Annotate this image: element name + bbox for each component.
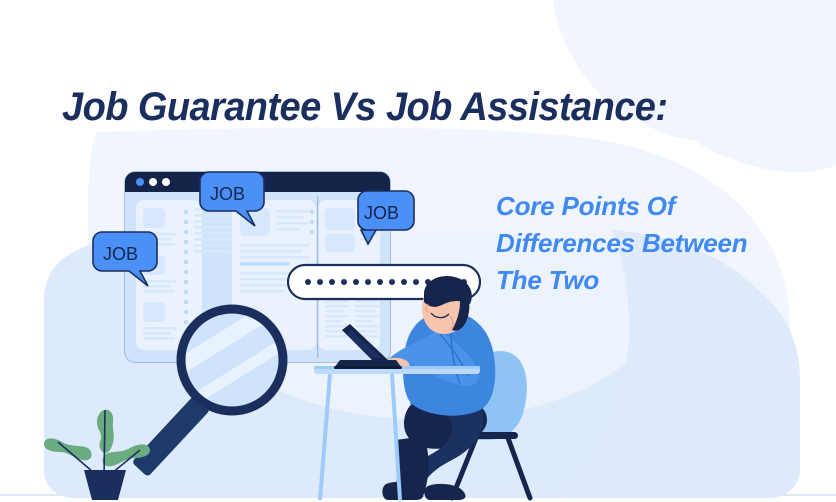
subtitle-line-3: The Two	[496, 262, 836, 299]
job-bubble-top: JOB	[200, 172, 264, 226]
page-subtitle: Core Points Of Differences Between The T…	[496, 188, 836, 299]
job-bubble-left: JOB	[93, 232, 157, 286]
job-bubble-right: JOB	[358, 191, 414, 244]
svg-text:JOB: JOB	[210, 184, 245, 204]
subtitle-line-2: Differences Between	[496, 225, 836, 262]
svg-text:JOB: JOB	[364, 203, 399, 223]
page-title: Job Guarantee Vs Job Assistance:	[62, 86, 756, 129]
svg-text:JOB: JOB	[103, 244, 138, 264]
poster-canvas: JOB JOB JOB Job Guarantee Vs Job Assista…	[0, 0, 836, 502]
subtitle-line-1: Core Points Of	[496, 188, 836, 225]
